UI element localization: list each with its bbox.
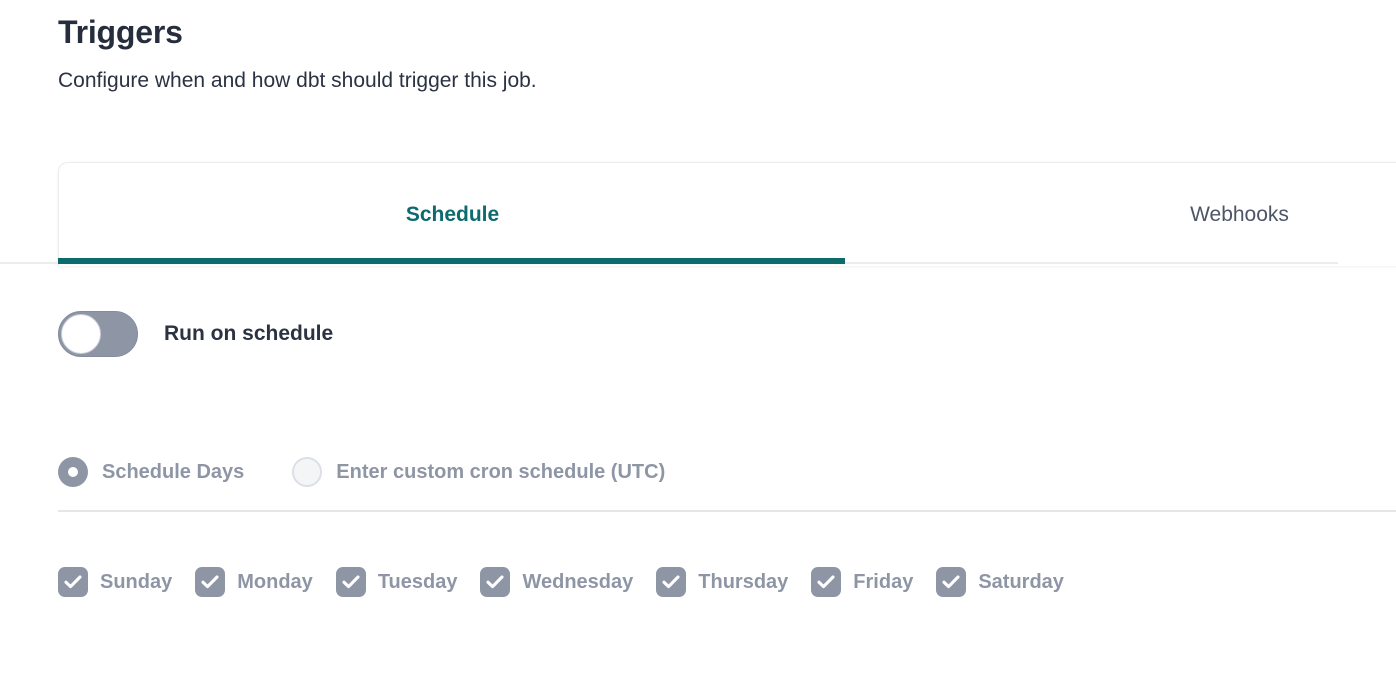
check-icon (58, 567, 88, 597)
tab-webhooks-label: Webhooks (1190, 203, 1289, 227)
check-icon (336, 567, 366, 597)
radio-custom-cron[interactable]: Enter custom cron schedule (UTC) (292, 457, 665, 487)
triggers-page: Triggers Configure when and how dbt shou… (0, 0, 1396, 680)
radio-unselected-icon (292, 457, 322, 487)
day-label-monday: Monday (237, 571, 313, 594)
day-checkbox-saturday[interactable]: Saturday (936, 567, 1064, 597)
radio-schedule-days-label: Schedule Days (102, 461, 244, 484)
run-on-schedule-toggle[interactable] (58, 311, 138, 357)
day-checkbox-thursday[interactable]: Thursday (656, 567, 788, 597)
check-icon (480, 567, 510, 597)
check-icon (656, 567, 686, 597)
check-icon (936, 567, 966, 597)
tab-active-indicator (58, 258, 845, 264)
day-checkbox-sunday[interactable]: Sunday (58, 567, 172, 597)
schedule-mode-radio-group: Schedule Days Enter custom cron schedule… (58, 457, 665, 487)
tab-schedule-label: Schedule (406, 203, 499, 227)
check-icon (195, 567, 225, 597)
check-icon (811, 567, 841, 597)
radio-selected-icon (58, 457, 88, 487)
radio-schedule-days[interactable]: Schedule Days (58, 457, 244, 487)
day-checkbox-tuesday[interactable]: Tuesday (336, 567, 458, 597)
toggle-knob-icon (61, 314, 101, 354)
day-checkbox-friday[interactable]: Friday (811, 567, 913, 597)
day-label-tuesday: Tuesday (378, 571, 458, 594)
tab-schedule[interactable]: Schedule (59, 163, 846, 266)
triggers-tabs-card: Schedule Webhooks (58, 162, 1396, 266)
day-checkbox-wednesday[interactable]: Wednesday (480, 567, 633, 597)
run-on-schedule-row: Run on schedule (58, 311, 333, 357)
day-label-thursday: Thursday (698, 571, 788, 594)
schedule-days-checkbox-group: Sunday Monday Tuesday Wednesday Thursday (58, 567, 1064, 597)
day-label-friday: Friday (853, 571, 913, 594)
tab-list: Schedule Webhooks (59, 163, 1396, 266)
section-divider (58, 510, 1396, 512)
radio-custom-cron-label: Enter custom cron schedule (UTC) (336, 461, 665, 484)
run-on-schedule-label: Run on schedule (164, 322, 333, 346)
tab-webhooks[interactable]: Webhooks (846, 163, 1396, 266)
page-title: Triggers (58, 10, 1258, 54)
day-label-wednesday: Wednesday (522, 571, 633, 594)
day-label-sunday: Sunday (100, 571, 172, 594)
day-label-saturday: Saturday (978, 571, 1064, 594)
day-checkbox-monday[interactable]: Monday (195, 567, 313, 597)
page-subtitle: Configure when and how dbt should trigge… (58, 54, 1258, 96)
page-header: Triggers Configure when and how dbt shou… (58, 10, 1258, 96)
